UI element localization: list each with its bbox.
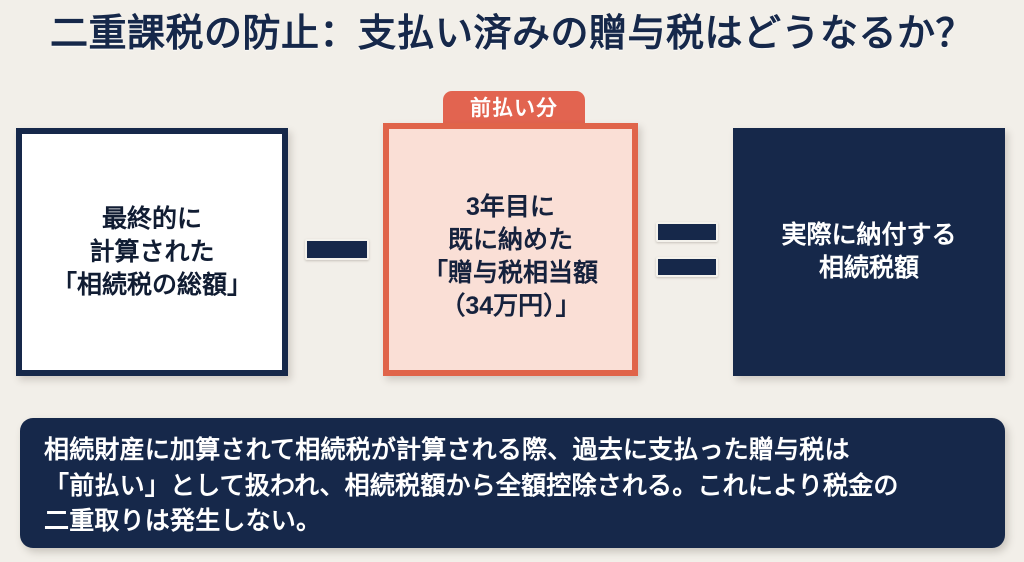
box-prepaid-gift-tax-label: 3年目に 既に納めた 「贈与税相当額 （34万円）」 <box>423 177 598 323</box>
equals-operator-icon <box>656 222 718 282</box>
equals-bar-bottom <box>656 257 718 277</box>
summary-panel: 相続財産に加算されて相続税が計算される際、過去に支払った贈与税は 「前払い」とし… <box>20 418 1005 548</box>
box-actual-payable-tax-label: 実際に納付する 相続税額 <box>781 219 956 285</box>
box-actual-payable-tax: 実際に納付する 相続税額 <box>733 128 1005 376</box>
title-bar: 二重課税の防止：支払い済みの贈与税はどうなるか？ <box>0 14 1024 56</box>
minus-operator-icon <box>305 239 369 263</box>
prepaid-badge-label: 前払い分 <box>470 98 558 119</box>
box-total-inheritance-tax-label: 最終的に 計算された 「相続税の総額」 <box>52 203 252 302</box>
box-total-inheritance-tax: 最終的に 計算された 「相続税の総額」 <box>16 128 288 376</box>
page-title: 二重課税の防止：支払い済みの贈与税はどうなるか？ <box>50 14 974 56</box>
minus-bar <box>305 239 369 260</box>
prepaid-badge: 前払い分 <box>443 91 585 126</box>
box-prepaid-gift-tax: 3年目に 既に納めた 「贈与税相当額 （34万円）」 <box>383 123 638 376</box>
summary-text: 相続財産に加算されて相続税が計算される際、過去に支払った贈与税は 「前払い」とし… <box>44 433 981 540</box>
equation-diagram: 最終的に 計算された 「相続税の総額」 前払い分 3年目に 既に納めた 「贈与税… <box>0 88 1024 388</box>
equals-bar-top <box>656 222 718 242</box>
